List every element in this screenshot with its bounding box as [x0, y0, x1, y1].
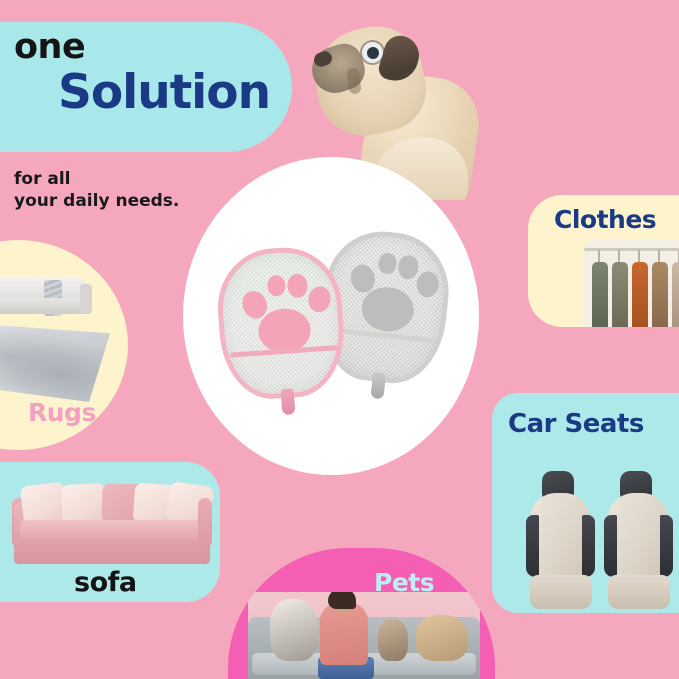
car-seat-bolster [526, 515, 539, 577]
card-rugs-label: Rugs [28, 398, 96, 427]
product-photo [205, 232, 455, 412]
card-pets[interactable]: Pets [228, 548, 495, 679]
paw-toe-3 [287, 273, 309, 298]
subheadline: for all your daily needs. [14, 168, 179, 212]
car-seat-bolster [582, 515, 595, 577]
headline-line-solution: Solution [58, 69, 270, 116]
car-seat-backrest [530, 493, 590, 575]
paw-pad-main [360, 285, 416, 334]
pug-pupil [367, 47, 379, 59]
pink-paw-laundry-bag [214, 244, 348, 402]
card-clothes[interactable]: Clothes [528, 195, 679, 327]
card-sofa[interactable]: sofa [0, 462, 220, 602]
pink-sofa-photo [14, 480, 210, 568]
rug-sofa-seat [0, 298, 92, 314]
garment [612, 262, 628, 327]
car-seat-right [602, 471, 676, 609]
dog-large [270, 599, 318, 661]
headline-line-one: one [14, 30, 270, 65]
headline: one Solution [14, 30, 270, 116]
product-infographic-poster: one Solution for all your daily needs. [0, 0, 679, 679]
car-seat-backrest [608, 493, 668, 575]
paw-toe-2 [378, 252, 398, 275]
sofa-seat [20, 520, 204, 538]
person-hair [328, 592, 356, 609]
car-seat-base [608, 575, 670, 609]
car-seat-left [524, 471, 598, 609]
rug-sofa-arm [80, 284, 92, 314]
car-seat-bolster [604, 515, 617, 577]
card-sofa-label: sofa [74, 567, 137, 598]
car-seat-base [530, 575, 592, 609]
garment [652, 262, 668, 327]
area-rug [0, 324, 110, 402]
bag-mesh-body [214, 244, 348, 402]
dog-small [378, 619, 408, 661]
pets-photo [248, 592, 480, 679]
rug-scene-sofa [0, 278, 92, 320]
paw-toe-4 [415, 270, 440, 298]
card-rugs[interactable]: Rugs [0, 240, 128, 450]
sofa-cushion [61, 483, 107, 525]
dog-medium [416, 615, 468, 661]
card-car-seats-label: Car Seats [508, 409, 644, 439]
clothes-rack-photo [584, 240, 679, 327]
subheadline-line-2: your daily needs. [14, 190, 179, 212]
card-car-seats[interactable]: Car Seats [492, 393, 679, 613]
subheadline-line-1: for all [14, 168, 179, 190]
card-clothes-label: Clothes [554, 205, 656, 234]
garment [632, 262, 648, 327]
garment [592, 262, 608, 327]
car-seat-bolster [660, 515, 673, 577]
zipper-pull-tab [370, 372, 386, 399]
sofa-arm-right [198, 498, 212, 548]
zipper-pull-tab [281, 388, 296, 415]
card-pets-label: Pets [374, 568, 434, 597]
garment [672, 262, 679, 327]
paw-toe-3 [397, 254, 419, 280]
paw-toe-2 [267, 275, 286, 297]
paw-toe-4 [306, 284, 333, 314]
